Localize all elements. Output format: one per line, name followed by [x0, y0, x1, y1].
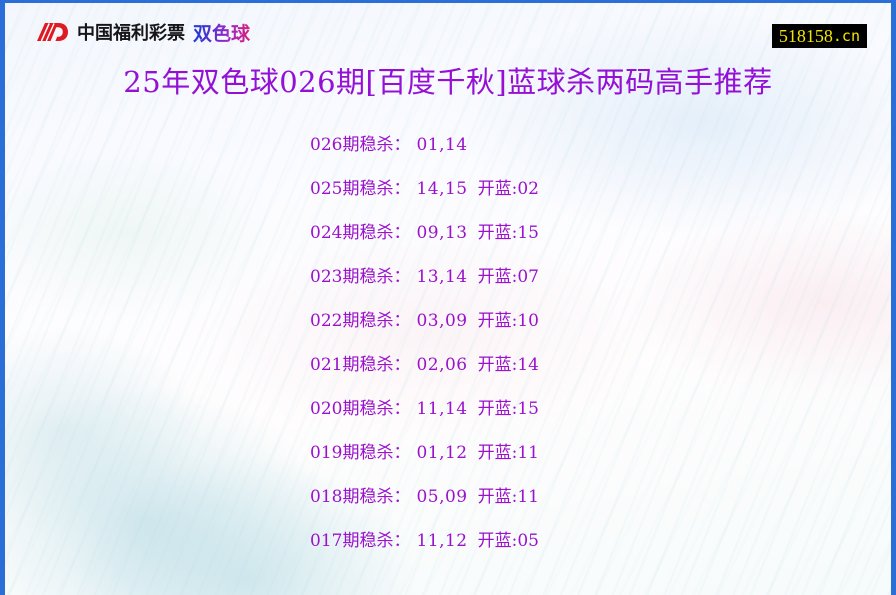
row-kill-numbers: 14,15	[416, 179, 467, 199]
row-blue-result: 开蓝:10	[478, 311, 539, 331]
list-item: 020期稳杀：11,14开蓝:15	[310, 387, 891, 431]
list-item: 022期稳杀：03,09开蓝:10	[310, 299, 891, 343]
row-period-label: 019期稳杀：	[310, 443, 410, 463]
page-root: 中国福利彩票 双色球 518158 .cn 25年双色球026期[百度千秋]蓝球…	[0, 0, 896, 595]
list-item: 025期稳杀：14,15开蓝:02	[310, 167, 891, 211]
site-header: 中国福利彩票 双色球 518158 .cn	[5, 3, 891, 51]
row-blue-result: 开蓝:15	[478, 223, 539, 243]
row-kill-numbers: 01,14	[416, 135, 467, 155]
row-blue-result: 开蓝:15	[478, 399, 539, 419]
row-period-label: 017期稳杀：	[310, 531, 410, 551]
row-kill-numbers: 01,12	[416, 443, 467, 463]
china-welfare-lottery-logo-icon	[35, 20, 69, 48]
row-period-label: 021期稳杀：	[310, 355, 410, 375]
list-item: 018期稳杀：05,09开蓝:11	[310, 475, 891, 519]
row-kill-numbers: 13,14	[416, 267, 467, 287]
list-item: 024期稳杀：09,13开蓝:15	[310, 211, 891, 255]
list-item: 023期稳杀：13,14开蓝:07	[310, 255, 891, 299]
row-kill-numbers: 11,14	[416, 399, 467, 419]
row-blue-result: 开蓝:02	[478, 179, 539, 199]
row-period-label: 022期稳杀：	[310, 311, 410, 331]
page-content: 中国福利彩票 双色球 518158 .cn 25年双色球026期[百度千秋]蓝球…	[5, 3, 891, 563]
page-title: 25年双色球026期[百度千秋]蓝球杀两码高手推荐	[5, 51, 891, 103]
brand-name-label: 中国福利彩票	[77, 20, 185, 48]
prediction-list: 026期稳杀：01,14 025期稳杀：14,15开蓝:02 024期稳杀：09…	[5, 123, 891, 563]
row-kill-numbers: 03,09	[416, 311, 467, 331]
row-period-label: 023期稳杀：	[310, 267, 410, 287]
list-item: 021期稳杀：02,06开蓝:14	[310, 343, 891, 387]
site-url-number: 518158	[779, 25, 833, 47]
site-url-tld: .cn	[833, 25, 860, 47]
row-blue-result: 开蓝:11	[478, 443, 539, 463]
row-period-label: 026期稳杀：	[310, 135, 410, 155]
list-item: 017期稳杀：11,12开蓝:05	[310, 519, 891, 563]
brand-product-label: 双色球	[193, 20, 250, 48]
row-blue-result: 开蓝:07	[478, 267, 539, 287]
row-kill-numbers: 02,06	[416, 355, 467, 375]
row-period-label: 024期稳杀：	[310, 223, 410, 243]
row-kill-numbers: 11,12	[416, 531, 467, 551]
row-period-label: 025期稳杀：	[310, 179, 410, 199]
site-url-badge[interactable]: 518158 .cn	[772, 24, 867, 48]
row-blue-result: 开蓝:11	[478, 487, 539, 507]
row-period-label: 018期稳杀：	[310, 487, 410, 507]
row-period-label: 020期稳杀：	[310, 399, 410, 419]
row-blue-result: 开蓝:14	[478, 355, 539, 375]
row-kill-numbers: 05,09	[416, 487, 467, 507]
row-kill-numbers: 09,13	[416, 223, 467, 243]
list-item: 019期稳杀：01,12开蓝:11	[310, 431, 891, 475]
row-blue-result: 开蓝:05	[478, 531, 539, 551]
list-item: 026期稳杀：01,14	[310, 123, 891, 167]
brand-lockup[interactable]: 中国福利彩票 双色球	[35, 19, 250, 49]
